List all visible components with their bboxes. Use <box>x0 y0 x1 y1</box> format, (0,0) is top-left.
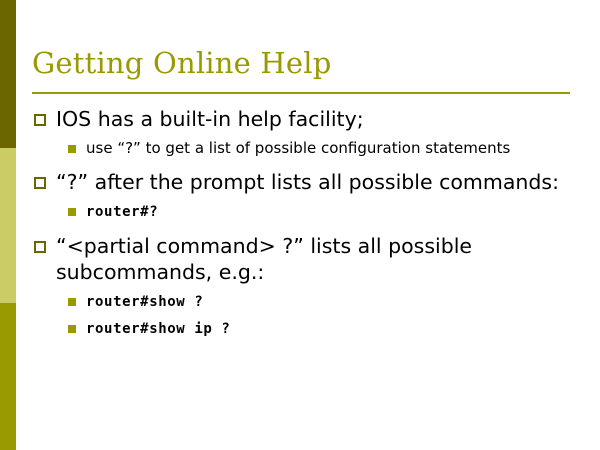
command-text: router#show ip ? <box>86 321 230 337</box>
decorative-sidebar <box>0 0 16 450</box>
slide-body: IOS has a built-in help facility; use “?… <box>32 106 577 341</box>
bullet-level2-command: router#show ip ? <box>32 319 577 339</box>
filled-square-bullet-icon <box>68 325 76 333</box>
spacer <box>32 224 577 233</box>
command-text: router#? <box>86 204 158 220</box>
bullet-text: use “?” to get a list of possible config… <box>86 139 510 157</box>
title-divider <box>32 92 570 94</box>
spacer <box>32 160 577 169</box>
sidebar-band-middle <box>0 148 16 303</box>
hollow-square-bullet-icon <box>34 241 46 253</box>
sidebar-band-top <box>0 0 16 148</box>
bullet-level2: use “?” to get a list of possible config… <box>32 139 577 158</box>
bullet-level2-command: router#? <box>32 202 577 222</box>
bullet-text: IOS has a built-in help facility; <box>56 107 364 131</box>
hollow-square-bullet-icon <box>34 114 46 126</box>
sidebar-band-bottom <box>0 303 16 450</box>
bullet-level1: IOS has a built-in help facility; <box>32 106 577 132</box>
hollow-square-bullet-icon <box>34 177 46 189</box>
slide: Getting Online Help IOS has a built-in h… <box>0 0 600 450</box>
bullet-level2-command: router#show ? <box>32 292 577 312</box>
command-text: router#show ? <box>86 294 203 310</box>
bullet-text: “<partial command> ?” lists all possible… <box>56 234 472 284</box>
filled-square-bullet-icon <box>68 145 76 153</box>
slide-title: Getting Online Help <box>32 46 572 80</box>
filled-square-bullet-icon <box>68 208 76 216</box>
bullet-level1: “<partial command> ?” lists all possible… <box>32 233 577 285</box>
bullet-level1: “?” after the prompt lists all possible … <box>32 169 577 195</box>
filled-square-bullet-icon <box>68 298 76 306</box>
bullet-text: “?” after the prompt lists all possible … <box>56 170 559 194</box>
